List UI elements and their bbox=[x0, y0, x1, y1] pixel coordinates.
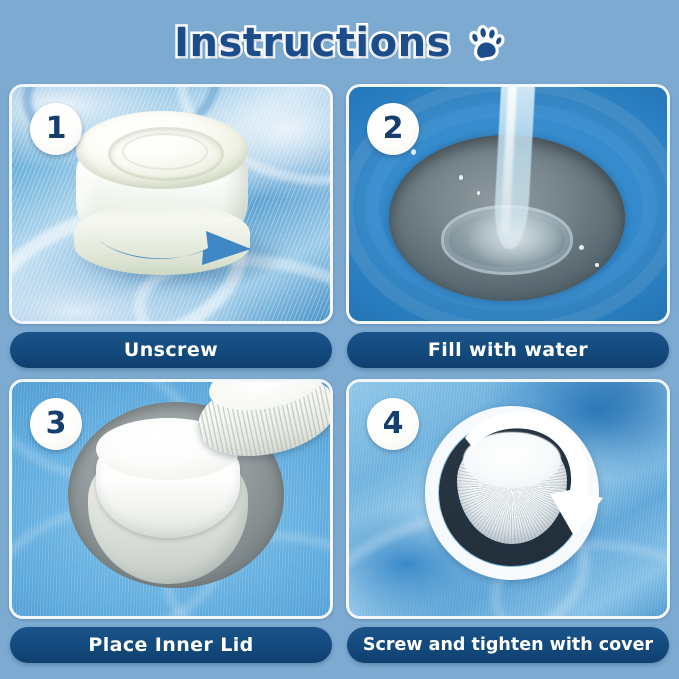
step-2-number-badge: 2 bbox=[367, 103, 419, 155]
step-3-photo: 3 bbox=[9, 379, 333, 619]
step-3-caption-bar: Place Inner Lid bbox=[10, 627, 332, 663]
step-2-caption-text: Fill with water bbox=[428, 339, 588, 361]
step-4-caption-text: Screw and tighten with cover bbox=[363, 635, 653, 655]
step-4-photo: 4 bbox=[346, 379, 670, 619]
unscrew-arrow-icon bbox=[86, 215, 256, 271]
step-1-number-badge: 1 bbox=[30, 103, 82, 155]
step-card-4: 4 Screw and tighten with cover bbox=[346, 379, 670, 663]
steps-grid: 1 Unscrew 2 bbox=[9, 84, 670, 664]
tighten-arrow-icon bbox=[411, 394, 631, 604]
water-droplet bbox=[595, 263, 599, 267]
step-4-number-badge: 4 bbox=[367, 398, 419, 450]
water-droplet bbox=[477, 191, 480, 195]
bottle-cap-inner-ring bbox=[122, 133, 208, 170]
step-3-number: 3 bbox=[46, 409, 67, 439]
paw-print-icon bbox=[465, 24, 505, 64]
water-droplet bbox=[459, 175, 463, 180]
step-2-photo: 2 bbox=[346, 84, 670, 324]
step-1-number: 1 bbox=[46, 114, 67, 144]
step-1-caption-bar: Unscrew bbox=[10, 332, 332, 368]
water-droplet bbox=[579, 245, 584, 250]
step-1-photo: 1 bbox=[9, 84, 333, 324]
step-3-number-badge: 3 bbox=[30, 398, 82, 450]
step-card-2: 2 Fill with water bbox=[346, 84, 670, 368]
step-4-caption-bar: Screw and tighten with cover bbox=[347, 627, 669, 663]
page-title: Instructions bbox=[174, 20, 451, 66]
water-droplet bbox=[411, 149, 416, 155]
step-card-1: 1 Unscrew bbox=[9, 84, 333, 368]
step-2-number: 2 bbox=[383, 114, 404, 144]
step-3-caption-text: Place Inner Lid bbox=[88, 634, 253, 656]
step-2-caption-bar: Fill with water bbox=[347, 332, 669, 368]
step-1-caption-text: Unscrew bbox=[124, 339, 218, 361]
step-card-3: 3 Place Inner Lid bbox=[9, 379, 333, 663]
page-header: Instructions bbox=[0, 14, 679, 72]
step-4-number: 4 bbox=[383, 409, 404, 439]
